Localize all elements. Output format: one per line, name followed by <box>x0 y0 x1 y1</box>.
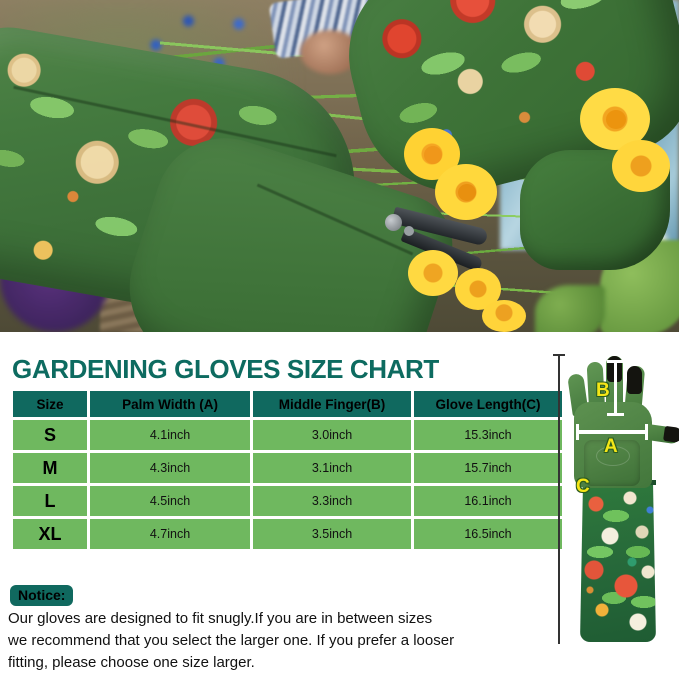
glove-fingertip-reinforced <box>627 366 642 394</box>
notice-badge: Notice: <box>10 585 73 606</box>
measurement-line-a <box>576 430 648 434</box>
gauntlet-floral-print <box>580 482 656 642</box>
cell-size: XL <box>13 519 87 549</box>
glove-measurement-diagram: A B C <box>552 348 679 658</box>
notice-line-3: fitting, please choose one size larger. <box>8 652 468 674</box>
cell-size: M <box>13 453 87 483</box>
cell-middle-finger: 3.0inch <box>253 420 411 450</box>
measurement-line-b-cap-top <box>607 360 624 363</box>
cell-glove-length: 15.3inch <box>414 420 562 450</box>
measurement-line-a-cap-left <box>576 424 579 440</box>
pruning-shears-pivot <box>385 214 402 231</box>
notice-line-2: we recommend that you select the larger … <box>8 630 468 652</box>
table-header-row: Size Palm Width (A) Middle Finger(B) Glo… <box>13 391 562 417</box>
glove-thumbtip-reinforced <box>663 426 679 443</box>
notice-line-1: Our gloves are designed to fit snugly.If… <box>8 608 468 630</box>
cell-middle-finger: 3.5inch <box>253 519 411 549</box>
measurement-line-b-cap-bottom <box>607 413 624 416</box>
cell-size: L <box>13 486 87 516</box>
daffodil-flower <box>482 300 526 332</box>
table-row: XL 4.7inch 3.5inch 16.5inch <box>13 519 562 549</box>
notice-text: Our gloves are designed to fit snugly.If… <box>8 608 468 674</box>
cell-palm-width: 4.3inch <box>90 453 250 483</box>
daffodil-flower <box>612 140 670 192</box>
cell-palm-width: 4.1inch <box>90 420 250 450</box>
column-header-glove-length: Glove Length(C) <box>414 391 562 417</box>
daffodil-center <box>458 184 476 201</box>
green-leaf-small <box>535 285 605 332</box>
measurement-line-a-cap-right <box>645 424 648 440</box>
page-title: GARDENING GLOVES SIZE CHART <box>12 354 439 385</box>
column-header-middle-finger: Middle Finger(B) <box>253 391 411 417</box>
table-row: S 4.1inch 3.0inch 15.3inch <box>13 420 562 450</box>
measurement-label-a: A <box>604 436 618 458</box>
cell-glove-length: 16.5inch <box>414 519 562 549</box>
cell-middle-finger: 3.1inch <box>253 453 411 483</box>
pruning-shears-nut <box>404 226 414 236</box>
cell-glove-length: 16.1inch <box>414 486 562 516</box>
measurement-label-c: C <box>576 476 590 498</box>
cell-size: S <box>13 420 87 450</box>
table-row: L 4.5inch 3.3inch 16.1inch <box>13 486 562 516</box>
daffodil-center <box>424 146 442 164</box>
daffodil-center <box>606 110 626 129</box>
cell-glove-length: 15.7inch <box>414 453 562 483</box>
measurement-label-b: B <box>596 380 610 402</box>
size-chart-table: Size Palm Width (A) Middle Finger(B) Glo… <box>10 388 565 552</box>
measurement-line-c-cap <box>553 354 565 356</box>
size-chart-section: GARDENING GLOVES SIZE CHART Size Palm Wi… <box>0 332 679 674</box>
cell-palm-width: 4.7inch <box>90 519 250 549</box>
column-header-size: Size <box>13 391 87 417</box>
measurement-line-c <box>558 354 560 644</box>
product-photo <box>0 0 679 332</box>
measurement-line-b <box>614 360 617 416</box>
cell-palm-width: 4.5inch <box>90 486 250 516</box>
column-header-palm-width: Palm Width (A) <box>90 391 250 417</box>
table-row: M 4.3inch 3.1inch 15.7inch <box>13 453 562 483</box>
cell-middle-finger: 3.3inch <box>253 486 411 516</box>
daffodil-flower <box>408 250 458 296</box>
